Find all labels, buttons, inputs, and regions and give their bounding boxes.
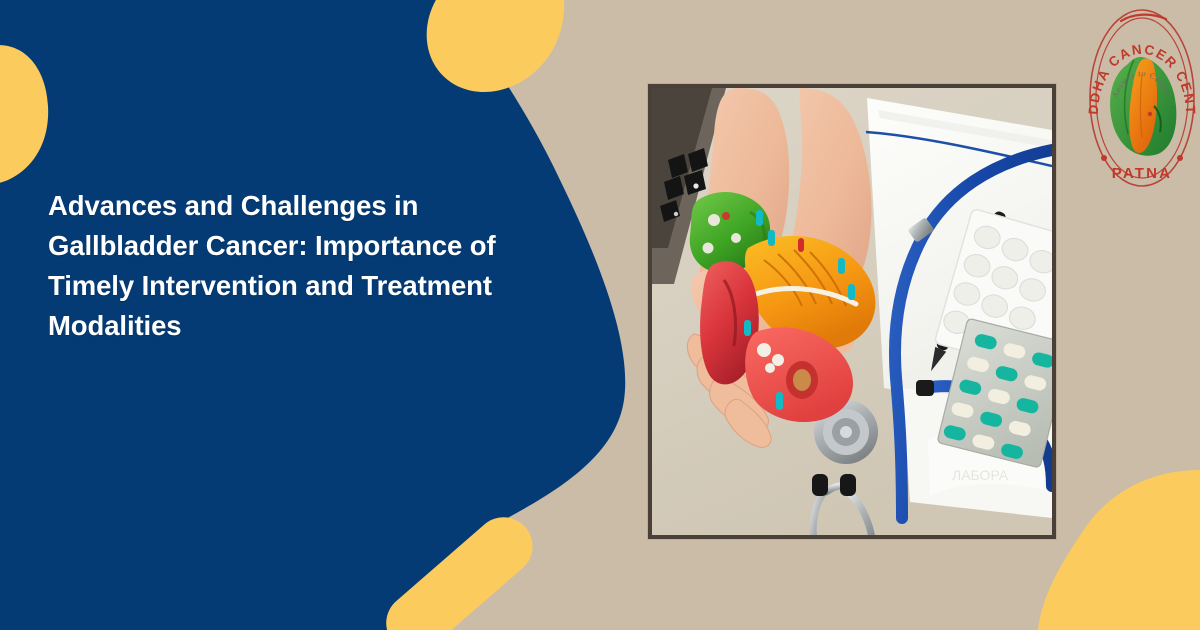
svg-text:ЛАБОРА: ЛАБОРА xyxy=(952,467,1009,483)
banner-root: Advances and Challenges in Gallbladder C… xyxy=(0,0,1200,630)
logo-city: PATNA xyxy=(1112,165,1172,182)
buddha-cancer-centre-logo[interactable]: BUDDHA CANCER CENTRE Answer to Cancer PA… xyxy=(1088,2,1196,190)
steth-joint xyxy=(916,380,934,396)
page-title: Advances and Challenges in Gallbladder C… xyxy=(48,186,568,347)
logo-dot-right xyxy=(1177,155,1183,161)
logo-svg: BUDDHA CANCER CENTRE Answer to Cancer PA… xyxy=(1088,2,1196,190)
hero-photo: ЛАБОРА xyxy=(652,88,1052,535)
hero-photo-frame: ЛАБОРА xyxy=(648,84,1056,539)
yellow-petal-top xyxy=(427,0,565,92)
hero-photo-illustration: ЛАБОРА xyxy=(652,88,1052,535)
yellow-blob-bottom-right xyxy=(1038,470,1200,630)
logo-dot-left xyxy=(1101,155,1107,161)
